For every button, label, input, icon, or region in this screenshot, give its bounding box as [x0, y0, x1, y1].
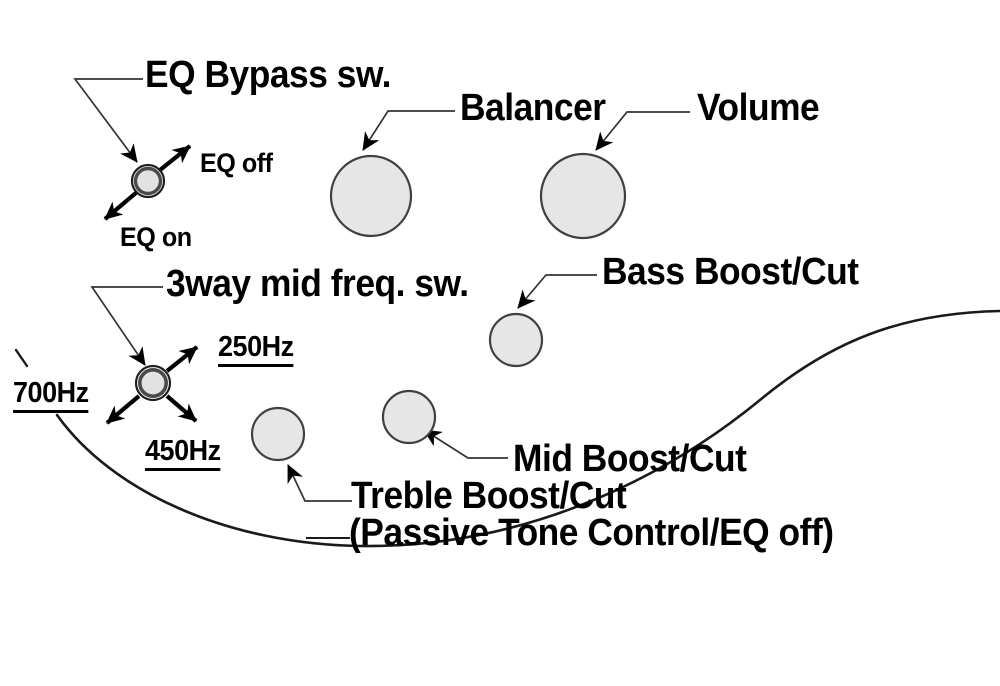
callout-bass	[518, 275, 597, 308]
treble-knob[interactable]	[252, 408, 304, 460]
arrow-450hz	[167, 396, 196, 421]
label-passive-tone-note: (Passive Tone Control/EQ off)	[349, 514, 834, 553]
callout-eq-bypass	[75, 79, 143, 162]
bass-eq-diagram: EQ Bypass sw. EQ off EQ on Balancer Volu…	[0, 0, 1000, 686]
label-250hz: 250Hz	[218, 333, 294, 367]
knobs[interactable]	[252, 154, 625, 460]
label-eq-off: EQ off	[200, 150, 273, 178]
label-700hz: 700Hz	[13, 379, 89, 413]
label-bass-boost-cut: Bass Boost/Cut	[602, 253, 859, 292]
label-balancer: Balancer	[460, 89, 606, 128]
callout-balancer	[363, 111, 455, 150]
label-eq-on: EQ on	[120, 224, 192, 252]
freq-option-700hz: 700Hz	[13, 379, 94, 413]
callout-volume	[596, 112, 690, 150]
label-volume: Volume	[697, 89, 819, 128]
arrow-eq-off	[160, 146, 190, 170]
mid-freq-switch[interactable]	[136, 366, 170, 400]
mini-switches[interactable]	[132, 165, 170, 400]
arrow-700hz	[107, 396, 139, 423]
bass-knob[interactable]	[490, 314, 542, 366]
label-mid-boost-cut: Mid Boost/Cut	[513, 440, 746, 479]
label-treble-boost-cut: Treble Boost/Cut	[351, 477, 626, 516]
label-450hz: 450Hz	[145, 437, 221, 471]
mid-knob[interactable]	[383, 391, 435, 443]
label-eq-bypass-sw: EQ Bypass sw.	[145, 56, 391, 95]
callout-treble	[288, 465, 352, 501]
volume-knob[interactable]	[541, 154, 625, 238]
balancer-knob[interactable]	[331, 156, 411, 236]
callout-mid-freq-sw	[92, 287, 163, 365]
freq-option-450hz: 450Hz	[145, 437, 226, 471]
eq-bypass-switch[interactable]	[132, 165, 164, 197]
freq-option-250hz: 250Hz	[218, 333, 299, 367]
arrow-250hz	[167, 347, 197, 371]
label-3way-mid-freq-sw: 3way mid freq. sw.	[166, 265, 469, 304]
callout-mid	[424, 430, 508, 458]
arrow-eq-on	[105, 192, 137, 219]
